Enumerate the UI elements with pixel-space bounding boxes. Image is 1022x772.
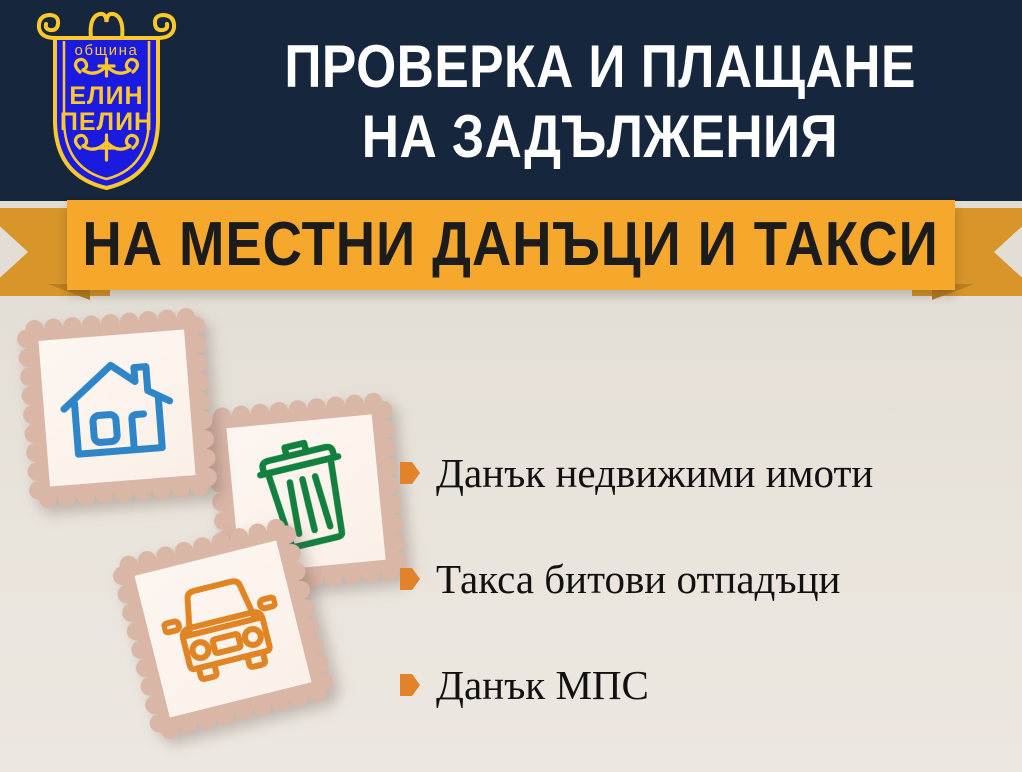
car-front-icon: [154, 566, 293, 692]
list-item-label: Данък недвижими имоти: [436, 450, 873, 496]
coat-of-arms-svg: община ЕЛИН ПЕЛИН: [33, 8, 180, 190]
list-item[interactable]: Данък МПС: [400, 632, 1010, 738]
logo-small-text: община: [75, 42, 139, 59]
house-icon: [55, 352, 179, 465]
poster-title: ПРОВЕРКА И ПЛАЩАНЕ НА ЗАДЪЛЖЕНИЯ: [190, 14, 1010, 189]
arrow-bullet-icon: [400, 460, 420, 486]
ribbon-text: НА МЕСТНИ ДАНЪЦИ И ТАКСИ: [83, 214, 939, 276]
header-banner: община ЕЛИН ПЕЛИН ПРОВЕРКА И ПЛАЩАНЕ НА …: [0, 0, 1022, 201]
logo-name-line1: ЕЛИН: [69, 82, 143, 110]
title-line-1: ПРОВЕРКА И ПЛАЩАНЕ: [284, 32, 915, 102]
tax-types-list: Данък недвижими имоти Такса битови отпад…: [400, 420, 1010, 738]
arrow-bullet-icon: [400, 672, 420, 698]
list-item[interactable]: Такса битови отпадъци: [400, 526, 1010, 632]
title-line-2: НА ЗАДЪЛЖЕНИЯ: [362, 102, 838, 172]
poster-canvas: община ЕЛИН ПЕЛИН ПРОВЕРКА И ПЛАЩАНЕ НА …: [0, 0, 1022, 772]
ribbon-band: НА МЕСТНИ ДАНЪЦИ И ТАКСИ: [67, 200, 955, 290]
subtitle-ribbon: НА МЕСТНИ ДАНЪЦИ И ТАКСИ: [0, 196, 1022, 306]
list-item-label: Данък МПС: [436, 662, 649, 708]
list-item-label: Такса битови отпадъци: [436, 556, 840, 602]
logo-name-line2: ПЕЛИН: [60, 108, 153, 136]
list-item[interactable]: Данък недвижими имоти: [400, 420, 1010, 526]
arrow-bullet-icon: [400, 566, 420, 592]
stamp-card-house: [15, 306, 219, 510]
municipality-logo: община ЕЛИН ПЕЛИН: [33, 8, 180, 190]
stamp-inner-house: [38, 329, 195, 486]
